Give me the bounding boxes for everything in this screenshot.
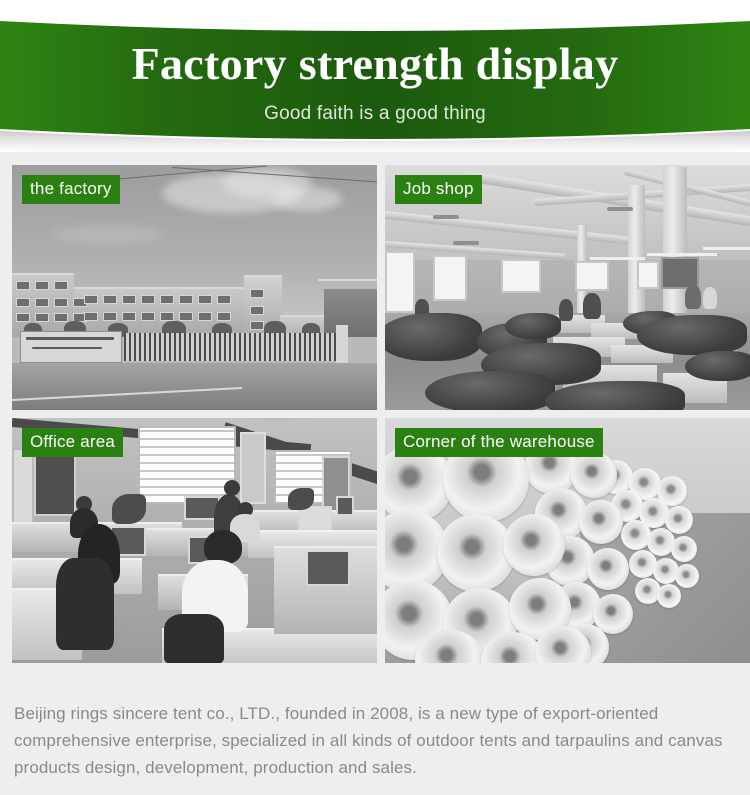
gallery-photo-office-area[interactable]: Office area [12,418,377,663]
banner-ribbon-shape [0,0,750,152]
photo-label-warehouse-corner: Corner of the warehouse [395,428,603,457]
gallery-photo-warehouse-corner[interactable]: Corner of the warehouse [385,418,750,663]
photo-label-the-factory: the factory [22,175,120,204]
photo-label-office-area: Office area [22,428,123,457]
header-banner: Factory strength display Good faith is a… [0,0,750,152]
gallery-photo-job-shop[interactable]: Job shop [385,165,750,410]
photo-label-job-shop: Job shop [395,175,482,204]
factory-strength-page: Factory strength display Good faith is a… [0,0,750,795]
photo-gallery-grid: the factory [12,165,738,663]
company-description-text: Beijing rings sincere tent co., LTD., fo… [14,700,736,781]
content-panel: the factory [0,152,750,795]
gallery-photo-the-factory[interactable]: the factory [12,165,377,410]
company-description: Beijing rings sincere tent co., LTD., fo… [0,684,750,795]
